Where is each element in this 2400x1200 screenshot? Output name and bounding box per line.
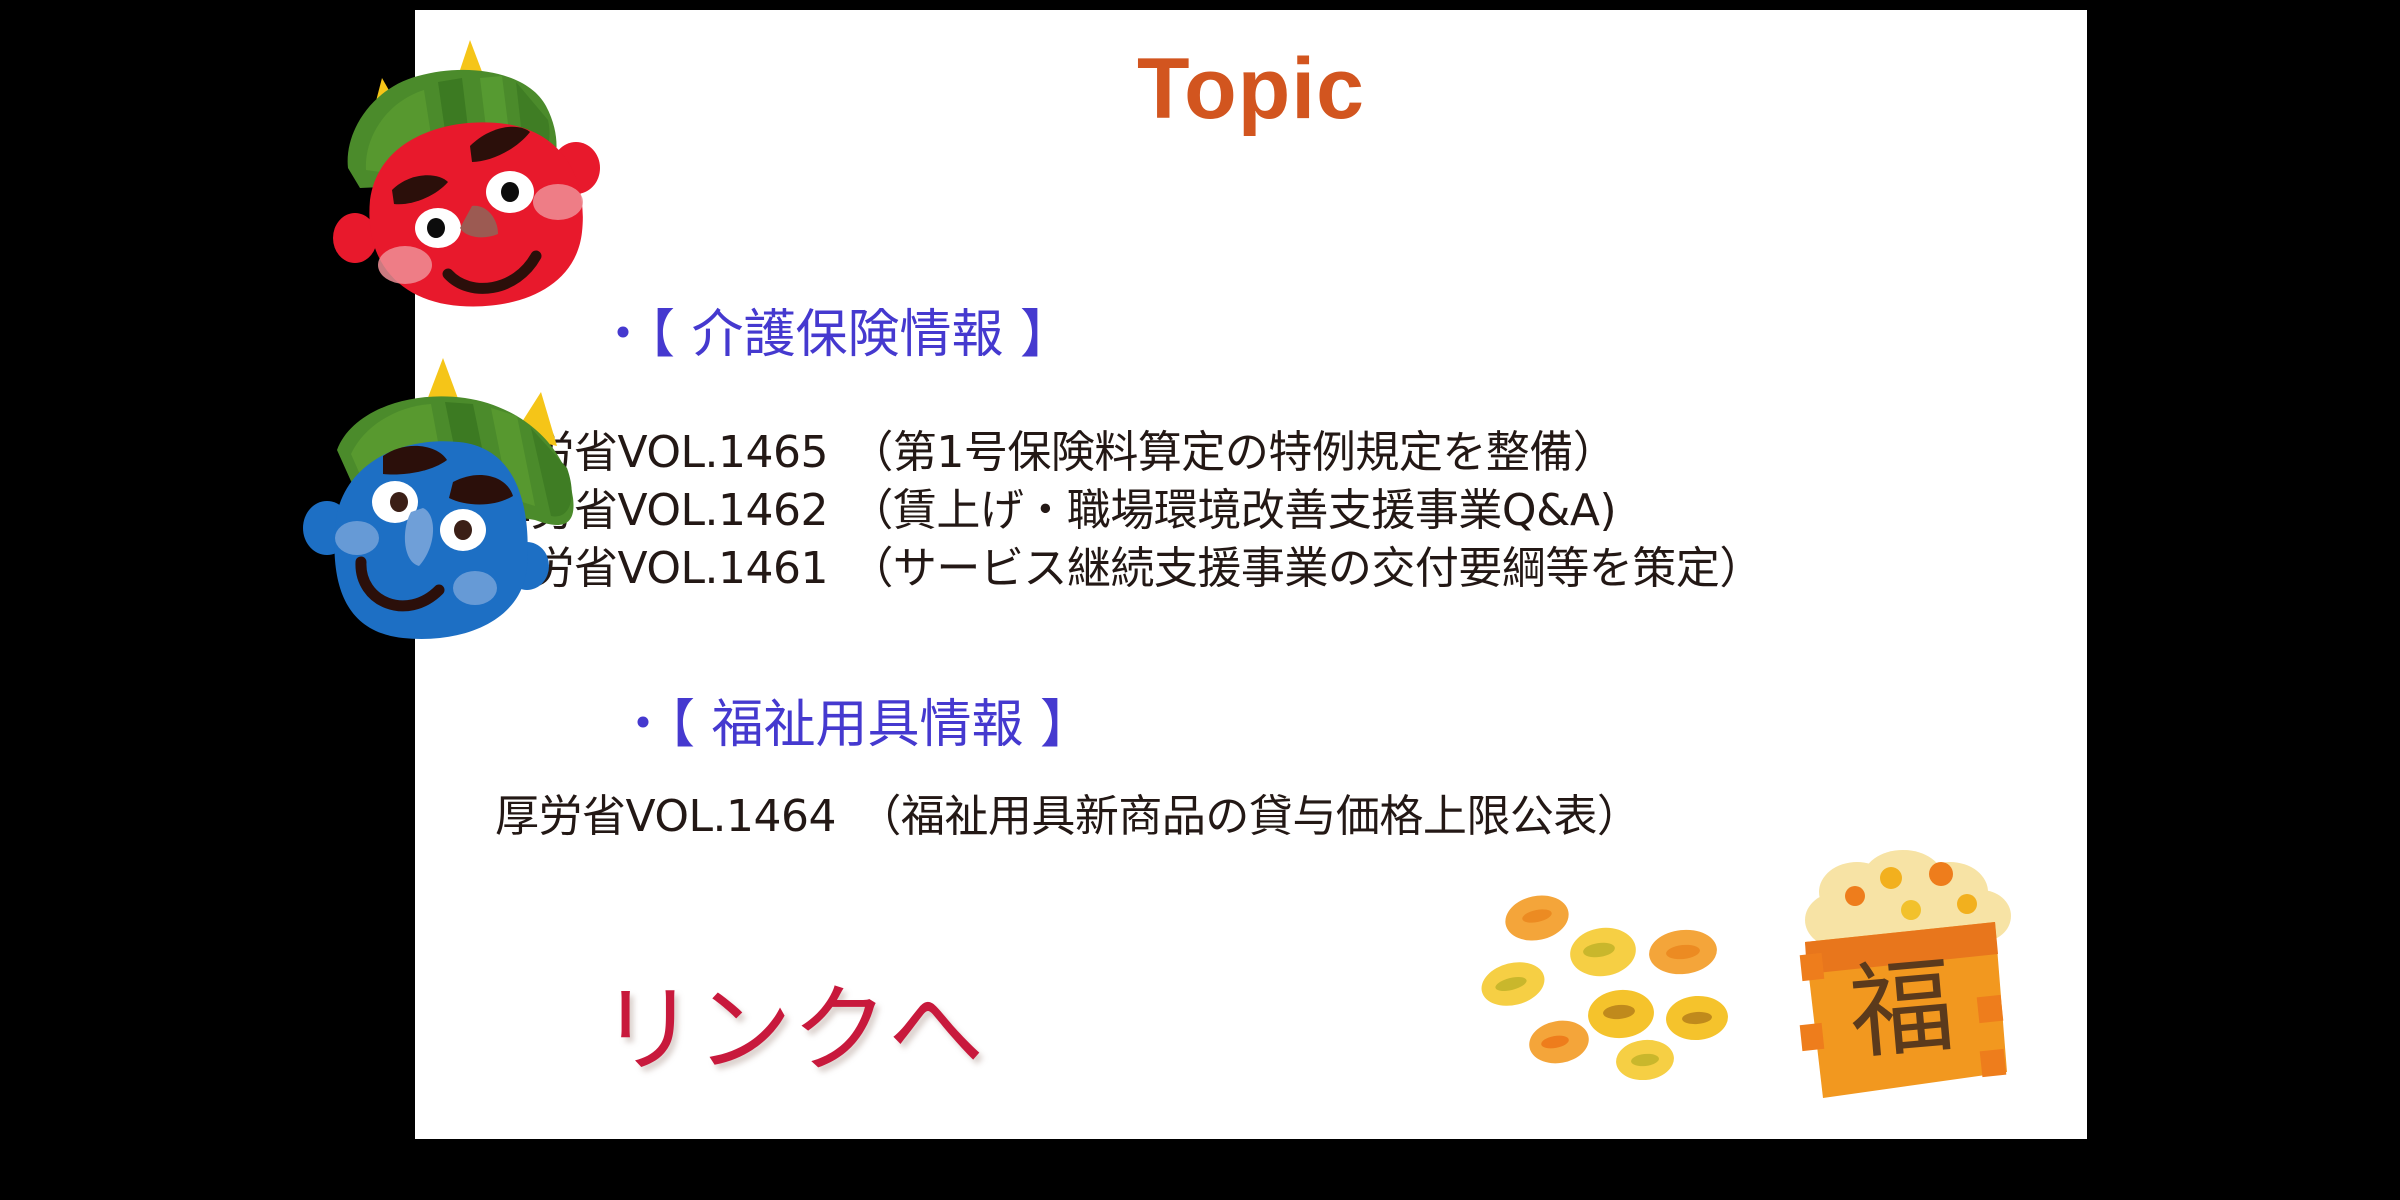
fuku-bean-bag-illustration: 福 (1745, 850, 2035, 1130)
scattered-beans-illustration (1475, 890, 1775, 1080)
blue-oni-illustration (295, 350, 595, 650)
section-heading-kaigo: ・【 介護保険情報 】 (597, 292, 1072, 367)
body-line-vol1464: 厚労省VOL.1464 （福祉用具新商品の貸与価格上限公表） (495, 780, 1640, 844)
slide-canvas: Topic ・【 介護保険情報 】 厚労省VOL.1465 （第1号保険料算定の… (415, 10, 2087, 1139)
page-title: Topic (415, 40, 2087, 139)
fuku-kanji-label: 福 (1844, 944, 1958, 1075)
link-callout[interactable]: リンクへ (600, 952, 984, 1091)
section-heading-fukushi: ・【 福祉用具情報 】 (617, 682, 1092, 757)
red-oni-illustration (320, 20, 610, 310)
screenshot-root: Topic ・【 介護保険情報 】 厚労省VOL.1465 （第1号保険料算定の… (0, 0, 2400, 1200)
body-line-vol1465: 厚労省VOL.1465 （第1号保険料算定の特例規定を整備） (487, 416, 1616, 480)
body-line-vol1462: 厚労省VOL.1462 （賃上げ・職場環境改善支援事業Q&A) (487, 474, 1616, 538)
body-line-vol1461: 厚労省VOL.1461 （サービス継続支援事業の交付要綱等を策定） (487, 532, 1763, 596)
